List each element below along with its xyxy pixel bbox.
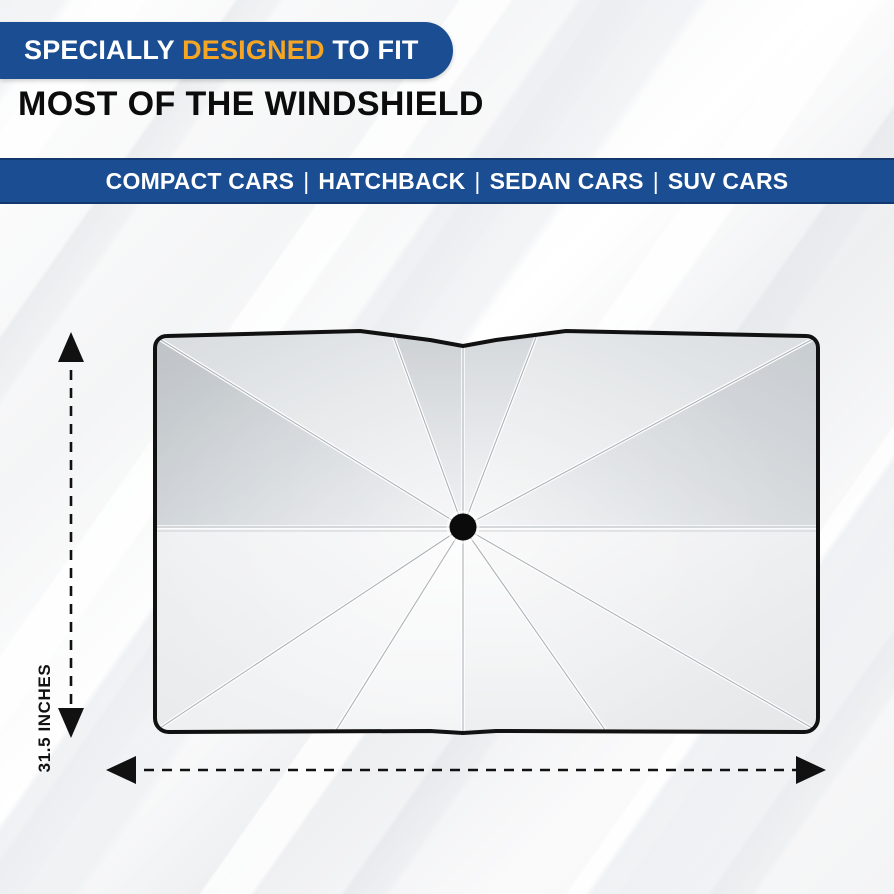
badge-text-part1: SPECIALLY bbox=[24, 35, 182, 65]
height-dimension-arrow bbox=[58, 332, 84, 738]
badge-text-accent: DESIGNED bbox=[182, 35, 325, 65]
vehicle-types-text: COMPACT CARS|HATCHBACK|SEDAN CARS|SUV CA… bbox=[106, 168, 789, 195]
separator-3: | bbox=[644, 168, 668, 195]
vehicle-type-suv-cars: SUV CARS bbox=[668, 168, 788, 195]
badge-text-part2: TO FIT bbox=[325, 35, 419, 65]
header-zone: SPECIALLY DESIGNED TO FIT MOST OF THE WI… bbox=[0, 0, 894, 200]
badge-text: SPECIALLY DESIGNED TO FIT bbox=[24, 37, 419, 64]
vehicle-type-hatchback: HATCHBACK bbox=[318, 168, 465, 195]
width-dimension-arrow bbox=[106, 756, 826, 784]
infographic-page: SPECIALLY DESIGNED TO FIT MOST OF THE WI… bbox=[0, 0, 894, 894]
vehicle-type-sedan-cars: SEDAN CARS bbox=[490, 168, 644, 195]
separator-2: | bbox=[465, 168, 489, 195]
specially-designed-badge: SPECIALLY DESIGNED TO FIT bbox=[0, 22, 453, 79]
dimension-arrows bbox=[0, 200, 894, 894]
separator-1: | bbox=[294, 168, 318, 195]
page-subheading: MOST OF THE WINDSHIELD bbox=[18, 86, 484, 123]
product-stage: 31.5 INCHES 54 INCHES bbox=[0, 200, 894, 894]
vehicle-types-bar: COMPACT CARS|HATCHBACK|SEDAN CARS|SUV CA… bbox=[0, 158, 894, 204]
vehicle-type-compact-cars: COMPACT CARS bbox=[106, 168, 295, 195]
height-dimension-label: 31.5 INCHES bbox=[35, 638, 55, 798]
